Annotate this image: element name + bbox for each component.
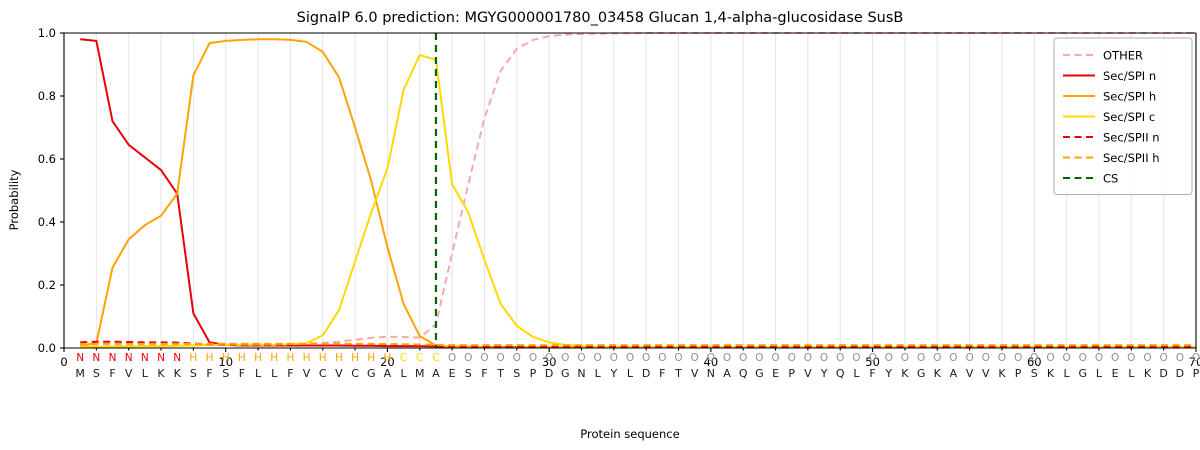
sequence-residue: A <box>384 367 392 380</box>
legend-label-sec-spi-h: Sec/SPI h <box>1103 89 1156 103</box>
sequence-residue: P <box>1193 367 1200 380</box>
sequence-residue: F <box>109 367 115 380</box>
sequence-residue: T <box>496 367 504 380</box>
region-label-c: C <box>432 352 439 364</box>
region-label-n: N <box>76 352 84 364</box>
sequence-residue: F <box>239 367 245 380</box>
region-label-h: H <box>351 352 359 364</box>
sequence-residue: A <box>432 367 440 380</box>
sequence-residue: L <box>853 367 860 380</box>
region-label-h: H <box>319 352 327 364</box>
region-label-h: H <box>270 352 278 364</box>
sequence-residue: L <box>142 367 149 380</box>
sequence-residue: L <box>1128 367 1135 380</box>
legend-label-sec-spi-n: Sec/SPI n <box>1103 69 1156 83</box>
region-label-o: O <box>755 352 763 364</box>
region-label-h: H <box>383 352 391 364</box>
sequence-residue: G <box>561 367 570 380</box>
region-label-o: O <box>804 352 812 364</box>
region-label-o: O <box>1046 352 1054 364</box>
sequence-residue: L <box>255 367 262 380</box>
region-label-o: O <box>788 352 796 364</box>
region-label-o: O <box>626 352 634 364</box>
legend-label-sec-spii-h: Sec/SPII h <box>1103 151 1160 165</box>
region-label-h: H <box>189 352 197 364</box>
prediction-chart: SignalP 6.0 prediction: MGYG000001780_03… <box>0 0 1200 450</box>
sequence-residue: K <box>174 367 182 380</box>
region-label-h: H <box>335 352 343 364</box>
region-label-o: O <box>1160 352 1168 364</box>
region-label-c: C <box>416 352 423 364</box>
y-tick-label: 0.4 <box>38 215 56 229</box>
y-axis-label: Probability <box>7 169 21 230</box>
sequence-residue: Y <box>820 367 828 380</box>
sequence-residue: E <box>1112 367 1119 380</box>
region-label-o: O <box>674 352 682 364</box>
region-label-o: O <box>1062 352 1070 364</box>
sequence-residue: D <box>1159 367 1167 380</box>
sequence-residue: P <box>530 367 537 380</box>
y-tick-label: 0.0 <box>38 341 56 355</box>
legend-label-other: OTHER <box>1103 48 1143 62</box>
region-label-n: N <box>92 352 100 364</box>
region-label-o: O <box>1143 352 1151 364</box>
sequence-residue: Q <box>739 367 748 380</box>
sequence-residue: K <box>1047 367 1055 380</box>
sequence-residue: M <box>75 367 85 380</box>
region-label-o: O <box>739 352 747 364</box>
signalp-prediction-figure: SignalP 6.0 prediction: MGYG000001780_03… <box>0 0 1200 450</box>
sequence-residue: L <box>1096 367 1103 380</box>
sequence-residue: A <box>950 367 958 380</box>
sequence-residue: V <box>335 367 343 380</box>
sequence-residue: G <box>367 367 376 380</box>
region-label-c: C <box>400 352 407 364</box>
region-label-o: O <box>723 352 731 364</box>
sequence-residue: V <box>691 367 699 380</box>
sequence-residue: C <box>319 367 327 380</box>
region-label-o: O <box>545 352 553 364</box>
sequence-residue: E <box>449 367 456 380</box>
y-tick-label: 0.6 <box>38 152 56 166</box>
region-label-o: O <box>1014 352 1022 364</box>
sequence-residue: S <box>1031 367 1038 380</box>
sequence-residue: G <box>917 367 926 380</box>
region-label-o: O <box>933 352 941 364</box>
sequence-residue: F <box>481 367 487 380</box>
y-tick-label: 0.8 <box>38 89 56 103</box>
sequence-residue: K <box>934 367 942 380</box>
y-tick-label: 1.0 <box>38 26 56 40</box>
sequence-residue: L <box>401 367 408 380</box>
sequence-residue: D <box>545 367 553 380</box>
chart-title: SignalP 6.0 prediction: MGYG000001780_03… <box>297 10 904 26</box>
region-label-o: O <box>529 352 537 364</box>
y-tick-label: 0.2 <box>38 278 56 292</box>
sequence-residue: L <box>271 367 278 380</box>
region-label-o: O <box>868 352 876 364</box>
region-label-o: O <box>610 352 618 364</box>
x-tick-label: 0 <box>60 355 67 369</box>
legend-label-sec-spii-n: Sec/SPII n <box>1103 130 1160 144</box>
region-label-o: O <box>836 352 844 364</box>
sequence-residue: A <box>723 367 731 380</box>
region-label-o: O <box>771 352 779 364</box>
region-label-n: N <box>157 352 165 364</box>
sequence-residue: E <box>772 367 779 380</box>
sequence-residue: N <box>577 367 585 380</box>
region-label-o: O <box>480 352 488 364</box>
region-label-o: O <box>513 352 521 364</box>
region-label-o: O <box>594 352 602 364</box>
region-label-o: O <box>1095 352 1103 364</box>
region-label-o: O <box>448 352 456 364</box>
sequence-residue: L <box>595 367 602 380</box>
sequence-residue: G <box>755 367 764 380</box>
region-label-h: H <box>286 352 294 364</box>
region-label-o: O <box>852 352 860 364</box>
sequence-residue: F <box>869 367 875 380</box>
sequence-residue: L <box>627 367 634 380</box>
sequence-residue: M <box>415 367 425 380</box>
sequence-residue: P <box>1015 367 1022 380</box>
region-label-o: O <box>998 352 1006 364</box>
sequence-residue: K <box>901 367 909 380</box>
region-label-o: O <box>577 352 585 364</box>
sequence-residue: F <box>659 367 665 380</box>
sequence-residue: Y <box>884 367 892 380</box>
legend-label-cs: CS <box>1103 171 1118 185</box>
region-label-h: H <box>303 352 311 364</box>
sequence-residue: V <box>966 367 974 380</box>
region-label-o: O <box>1127 352 1135 364</box>
region-label-o: O <box>1030 352 1038 364</box>
sequence-residue: D <box>642 367 650 380</box>
region-label-o: O <box>707 352 715 364</box>
region-label-o: O <box>464 352 472 364</box>
x-axis-label: Protein sequence <box>580 427 679 441</box>
region-label-h: H <box>206 352 214 364</box>
sequence-residue: K <box>157 367 165 380</box>
region-label-h: H <box>222 352 230 364</box>
sequence-residue: Q <box>836 367 845 380</box>
figure-background <box>0 0 1200 450</box>
region-label-o: O <box>642 352 650 364</box>
region-label-o: O <box>982 352 990 364</box>
legend-label-sec-spi-c: Sec/SPI c <box>1103 110 1155 124</box>
region-label-o: O <box>949 352 957 364</box>
region-label-h: H <box>367 352 375 364</box>
sequence-residue: V <box>804 367 812 380</box>
sequence-residue: L <box>1064 367 1071 380</box>
region-label-o: O <box>885 352 893 364</box>
sequence-residue: S <box>93 367 100 380</box>
region-label-o: O <box>965 352 973 364</box>
region-label-h: H <box>254 352 262 364</box>
sequence-residue: K <box>998 367 1006 380</box>
sequence-residue: F <box>287 367 293 380</box>
region-label-o: O <box>1111 352 1119 364</box>
region-label-o: O <box>561 352 569 364</box>
sequence-residue: V <box>982 367 990 380</box>
region-label-o: O <box>1176 352 1184 364</box>
region-label-h: H <box>238 352 246 364</box>
sequence-residue: S <box>222 367 229 380</box>
sequence-residue: D <box>1176 367 1184 380</box>
region-label-o: O <box>496 352 504 364</box>
region-label-o: O <box>1079 352 1087 364</box>
region-label-n: N <box>125 352 133 364</box>
region-label-o: O <box>820 352 828 364</box>
region-label-n: N <box>109 352 117 364</box>
sequence-residue: N <box>707 367 715 380</box>
region-label-o: O <box>1192 352 1200 364</box>
sequence-residue: T <box>674 367 682 380</box>
sequence-residue: S <box>513 367 520 380</box>
sequence-residue: F <box>206 367 212 380</box>
sequence-residue: P <box>788 367 795 380</box>
sequence-residue: S <box>190 367 197 380</box>
region-label-o: O <box>691 352 699 364</box>
sequence-residue: Y <box>609 367 617 380</box>
sequence-residue: G <box>1079 367 1088 380</box>
sequence-residue: V <box>303 367 311 380</box>
sequence-residue: V <box>125 367 133 380</box>
chart-legend[interactable]: OTHERSec/SPI nSec/SPI hSec/SPI cSec/SPII… <box>1054 38 1192 195</box>
sequence-residue: K <box>1144 367 1152 380</box>
region-label-n: N <box>141 352 149 364</box>
sequence-residue: S <box>465 367 472 380</box>
region-label-o: O <box>658 352 666 364</box>
region-label-o: O <box>917 352 925 364</box>
sequence-residue: C <box>351 367 359 380</box>
region-label-n: N <box>173 352 181 364</box>
region-label-o: O <box>901 352 909 364</box>
